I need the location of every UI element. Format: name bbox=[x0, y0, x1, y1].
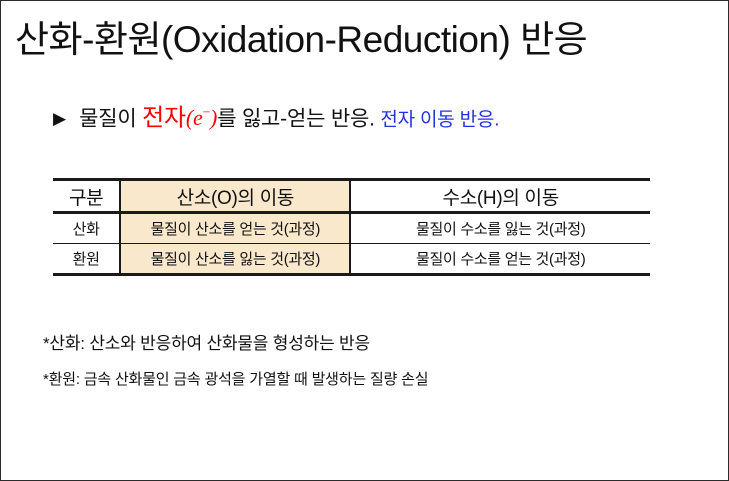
table-row: 환원 물질이 산소를 잃는 것(과정) 물질이 수소를 얻는 것(과정) bbox=[53, 244, 650, 275]
bullet-text-part-1: 물질이 bbox=[79, 107, 142, 130]
table-header-oxygen: 산소(O)의 이동 bbox=[120, 180, 350, 213]
bullet-highlight-electron: 전자 bbox=[142, 104, 186, 131]
electron-symbol: (e−) bbox=[186, 105, 217, 130]
footnote-reduction: *환원: 금속 산화물인 금속 광석을 가열할 때 발생하는 질량 손실 bbox=[43, 369, 428, 391]
page-title: 산화-환원(Oxidation-Reduction) 반응 bbox=[15, 17, 715, 63]
slide-canvas: 산화-환원(Oxidation-Reduction) 반응 ▶ 물질이 전자(e… bbox=[0, 0, 729, 481]
footnote-oxidation: *산화: 산소와 반응하여 산화물을 형성하는 반응 bbox=[43, 333, 370, 355]
table-row-label-reduction: 환원 bbox=[53, 244, 120, 275]
paren-open: ( bbox=[186, 105, 193, 130]
bullet-highlight-electron-transfer: 전자 이동 반응. bbox=[380, 109, 499, 130]
table-header-hydrogen: 수소(H)의 이동 bbox=[350, 180, 650, 213]
bullet-triangle-icon: ▶ bbox=[53, 105, 66, 133]
electron-e: e bbox=[193, 105, 203, 130]
table-cell-reduction-hydrogen: 물질이 수소를 얻는 것(과정) bbox=[350, 244, 650, 275]
table-header-row: 구분 산소(O)의 이동 수소(H)의 이동 bbox=[53, 180, 650, 213]
electron-charge-superscript: − bbox=[203, 105, 210, 120]
bullet-line: ▶ 물질이 전자(e−)를 잃고-얻는 반응. 전자 이동 반응. bbox=[53, 99, 499, 134]
table-row-label-oxidation: 산화 bbox=[53, 213, 120, 244]
table-cell-oxidation-hydrogen: 물질이 수소를 잃는 것(과정) bbox=[350, 213, 650, 244]
oxidation-reduction-table: 구분 산소(O)의 이동 수소(H)의 이동 산화 물질이 산소를 얻는 것(과… bbox=[53, 178, 650, 276]
bullet-text: 물질이 전자(e−)를 잃고-얻는 반응. 전자 이동 반응. bbox=[79, 99, 499, 134]
table-cell-oxidation-oxygen: 물질이 산소를 얻는 것(과정) bbox=[120, 213, 350, 244]
table-header-category: 구분 bbox=[53, 180, 120, 213]
bullet-text-part-2: 를 잃고-얻는 반응. bbox=[217, 107, 375, 130]
table-cell-reduction-oxygen: 물질이 산소를 잃는 것(과정) bbox=[120, 244, 350, 275]
table-row: 산화 물질이 산소를 얻는 것(과정) 물질이 수소를 잃는 것(과정) bbox=[53, 213, 650, 244]
